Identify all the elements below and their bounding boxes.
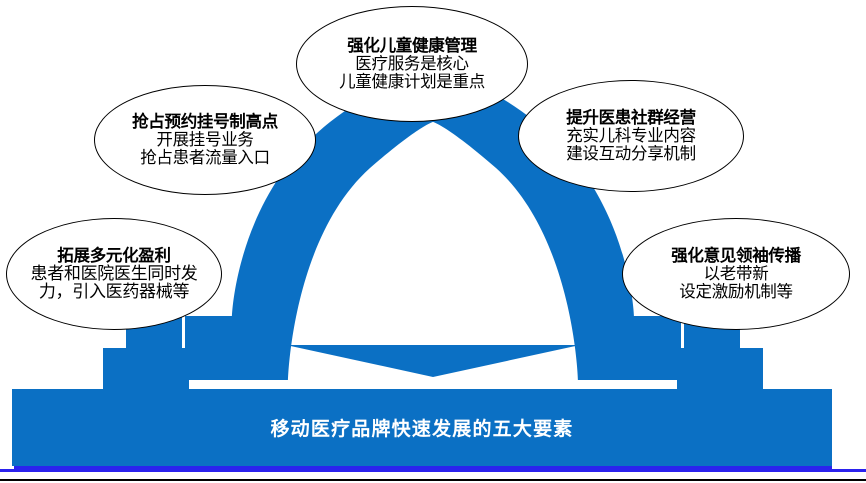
node-upper-right[interactable]: 提升医患社群经营 充实儿科专业内容 建设互动分享机制 bbox=[518, 80, 744, 192]
node-title: 强化儿童健康管理 bbox=[347, 37, 477, 55]
footer-bar[interactable]: 移动医疗品牌快速发展的五大要素 bbox=[12, 389, 832, 466]
node-title: 提升医患社群经营 bbox=[566, 109, 696, 127]
diagram-canvas: 强化儿童健康管理 医疗服务是核心 儿童健康计划是重点 抢占预约挂号制高点 开展挂… bbox=[0, 0, 866, 483]
node-line-3: 力，引入医药器械等 bbox=[39, 283, 189, 301]
node-bottom-right[interactable]: 强化意见领袖传播 以老带新 设定激励机制等 bbox=[622, 218, 850, 330]
node-line-3: 儿童健康计划是重点 bbox=[339, 73, 485, 91]
node-bottom-left[interactable]: 拓展多元化盈利 患者和医院医生同时发 力，引入医药器械等 bbox=[6, 218, 222, 330]
node-line-2: 患者和医院医生同时发 bbox=[31, 265, 198, 283]
node-line-3: 抢占患者流量入口 bbox=[140, 149, 270, 167]
node-upper-left[interactable]: 抢占预约挂号制高点 开展挂号业务 抢占患者流量入口 bbox=[94, 85, 316, 195]
node-line-3: 设定激励机制等 bbox=[679, 283, 792, 301]
node-title: 抢占预约挂号制高点 bbox=[132, 113, 278, 131]
node-line-2: 医疗服务是核心 bbox=[355, 55, 468, 73]
node-top-center[interactable]: 强化儿童健康管理 医疗服务是核心 儿童健康计划是重点 bbox=[296, 6, 528, 122]
node-line-3: 建设互动分享机制 bbox=[566, 145, 696, 163]
page-rule-blue bbox=[0, 469, 866, 472]
node-title: 强化意见领袖传播 bbox=[671, 247, 801, 265]
footer-bar-label: 移动医疗品牌快速发展的五大要素 bbox=[270, 414, 573, 441]
node-line-2: 以老带新 bbox=[704, 265, 769, 283]
page-rule-black bbox=[0, 479, 866, 481]
node-line-2: 充实儿科专业内容 bbox=[566, 127, 696, 145]
node-title: 拓展多元化盈利 bbox=[57, 247, 170, 265]
down-chevron-icon bbox=[286, 345, 580, 377]
node-line-2: 开展挂号业务 bbox=[156, 131, 253, 149]
